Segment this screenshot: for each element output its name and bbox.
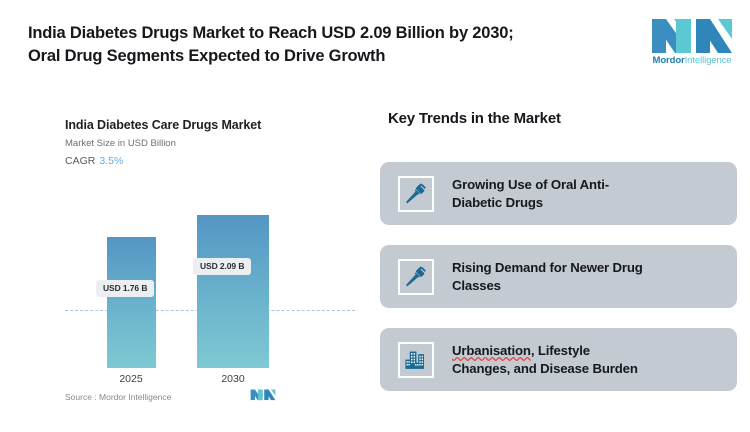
key-trends-title: Key Trends in the Market [388, 110, 561, 127]
buildings-icon [398, 342, 434, 378]
headline-line-1: India Diabetes Drugs Market to Reach USD… [28, 24, 514, 42]
bar-value-label-2025: USD 1.76 B [96, 280, 154, 297]
bar-value-label-2030: USD 2.09 B [193, 258, 251, 275]
chart-subtitle: Market Size in USD Billion [65, 138, 176, 149]
mordor-logo-wordmark: MordorIntelligence [650, 55, 734, 66]
trend-text-line-2: Classes [452, 278, 501, 293]
trend-card-newer-drug-classes[interactable]: Rising Demand for Newer Drug Classes [380, 245, 737, 308]
bar-2030 [197, 215, 269, 368]
trend-text-line-1: Rising Demand for Newer Drug [452, 260, 643, 275]
syringe-icon [398, 176, 434, 212]
trend-text-line-2: Diabetic Drugs [452, 195, 543, 210]
syringe-icon-glyph [403, 181, 429, 207]
logo-word-mordor: Mordor [653, 55, 685, 66]
buildings-icon-glyph [403, 347, 429, 373]
chart-source: Source : Mordor Intelligence [65, 392, 171, 402]
cagr-label: CAGR [65, 155, 95, 167]
headline-line-2: Oral Drug Segments Expected to Drive Gro… [28, 47, 385, 65]
syringe-icon-glyph [403, 264, 429, 290]
mordor-logo-mark [650, 17, 734, 53]
page-title: India Diabetes Drugs Market to Reach USD… [28, 22, 628, 69]
trend-card-text: Urbanisation, Lifestyle Changes, and Dis… [452, 342, 638, 377]
cagr-value: 3.5% [99, 155, 123, 167]
syringe-icon [398, 259, 434, 295]
chart-plot-area: USD 1.76 B USD 2.09 B 2025 2030 [65, 178, 355, 368]
x-axis-label-2025: 2025 [91, 373, 171, 385]
trend-card-text: Growing Use of Oral Anti- Diabetic Drugs [452, 176, 609, 211]
chart-cagr: CAGR3.5% [65, 155, 123, 167]
infographic-page: India Diabetes Drugs Market to Reach USD… [0, 0, 750, 432]
market-size-chart: India Diabetes Care Drugs Market Market … [20, 100, 370, 420]
trend-card-list: Growing Use of Oral Anti- Diabetic Drugs [380, 162, 740, 411]
mordor-intelligence-logo: MordorIntelligence [650, 17, 734, 71]
bar-2025 [107, 237, 156, 368]
trend-text-line-1: Growing Use of Oral Anti- [452, 177, 609, 192]
trend-card-oral-anti-diabetic[interactable]: Growing Use of Oral Anti- Diabetic Drugs [380, 162, 737, 225]
chart-title: India Diabetes Care Drugs Market [65, 118, 261, 132]
mordor-logo-mark-small [250, 388, 276, 401]
key-trends-panel: Key Trends in the Market [380, 100, 740, 420]
trend-text-line-1-spellchecked: Urbanisation [452, 343, 531, 358]
trend-text-line-1-rest: , Lifestyle [531, 343, 590, 358]
header: India Diabetes Drugs Market to Reach USD… [0, 0, 750, 88]
trend-text-line-2: Changes, and Disease Burden [452, 361, 638, 376]
x-axis-label-2030: 2030 [193, 373, 273, 385]
trend-card-urbanisation[interactable]: Urbanisation, Lifestyle Changes, and Dis… [380, 328, 737, 391]
trend-card-text: Rising Demand for Newer Drug Classes [452, 259, 643, 294]
logo-word-intelligence: Intelligence [685, 55, 732, 66]
